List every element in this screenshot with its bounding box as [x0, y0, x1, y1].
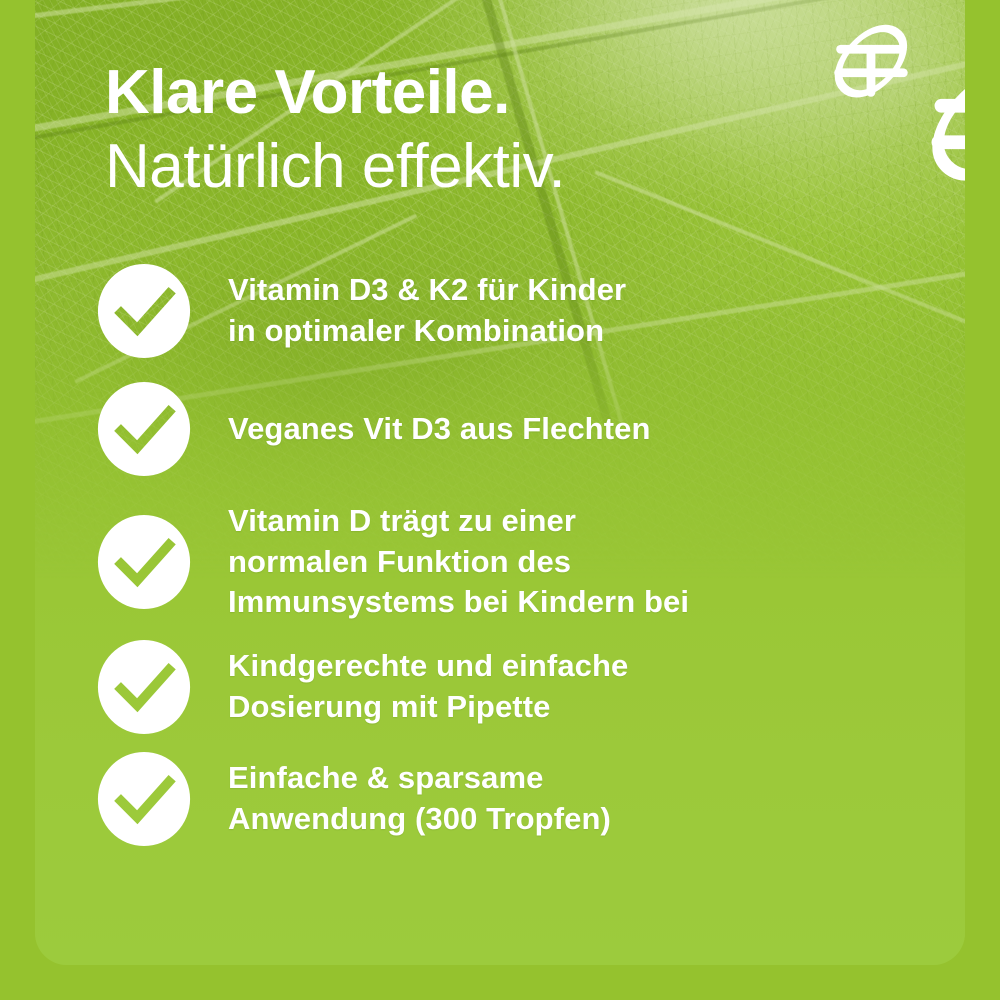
- check-circle-icon: [96, 750, 192, 848]
- list-item-line: Anwendung (300 Tropfen): [228, 799, 611, 840]
- page-title: Klare Vorteile. Natürlich effektiv.: [105, 62, 565, 198]
- headline-line-1: Klare Vorteile.: [105, 62, 565, 124]
- list-item-line: Vitamin D3 & K2 für Kinder: [228, 270, 626, 311]
- check-circle-icon: [96, 380, 192, 478]
- list-item-line: Kindgerechte und einfache: [228, 646, 628, 687]
- list-item-line: Dosierung mit Pipette: [228, 687, 628, 728]
- check-circle-icon: [96, 638, 192, 736]
- leaf-outline-icon-large: [911, 48, 965, 200]
- headline-line-2: Natürlich effektiv.: [105, 136, 565, 198]
- benefits-list: Vitamin D3 & K2 für Kinder in optimaler …: [96, 262, 896, 848]
- list-item-line: Veganes Vit D3 aus Flechten: [228, 409, 651, 450]
- check-circle-icon: [96, 513, 192, 611]
- list-item-line: Einfache & sparsame: [228, 758, 611, 799]
- list-item-line: Vitamin D trägt zu einer: [228, 501, 689, 542]
- check-circle-icon: [96, 262, 192, 360]
- list-item-line: Immunsystems bei Kindern bei: [228, 582, 689, 623]
- list-item: Vitamin D3 & K2 für Kinder in optimaler …: [96, 262, 896, 360]
- list-item-label: Einfache & sparsame Anwendung (300 Tropf…: [228, 758, 611, 840]
- list-item: Veganes Vit D3 aus Flechten: [96, 380, 896, 478]
- list-item: Vitamin D trägt zu einer normalen Funkti…: [96, 498, 896, 626]
- list-item-line: normalen Funktion des: [228, 542, 689, 583]
- list-item-line: in optimaler Kombination: [228, 311, 626, 352]
- list-item-label: Kindgerechte und einfache Dosierung mit …: [228, 646, 628, 728]
- benefits-banner: Klare Vorteile. Natürlich effektiv.: [0, 0, 1000, 1000]
- list-item: Kindgerechte und einfache Dosierung mit …: [96, 638, 896, 736]
- list-item-label: Vitamin D3 & K2 für Kinder in optimaler …: [228, 270, 626, 352]
- list-item: Einfache & sparsame Anwendung (300 Tropf…: [96, 750, 896, 848]
- leaf-outline-icon-small: [821, 12, 919, 110]
- list-item-label: Vitamin D trägt zu einer normalen Funkti…: [228, 501, 689, 624]
- list-item-label: Veganes Vit D3 aus Flechten: [228, 409, 651, 450]
